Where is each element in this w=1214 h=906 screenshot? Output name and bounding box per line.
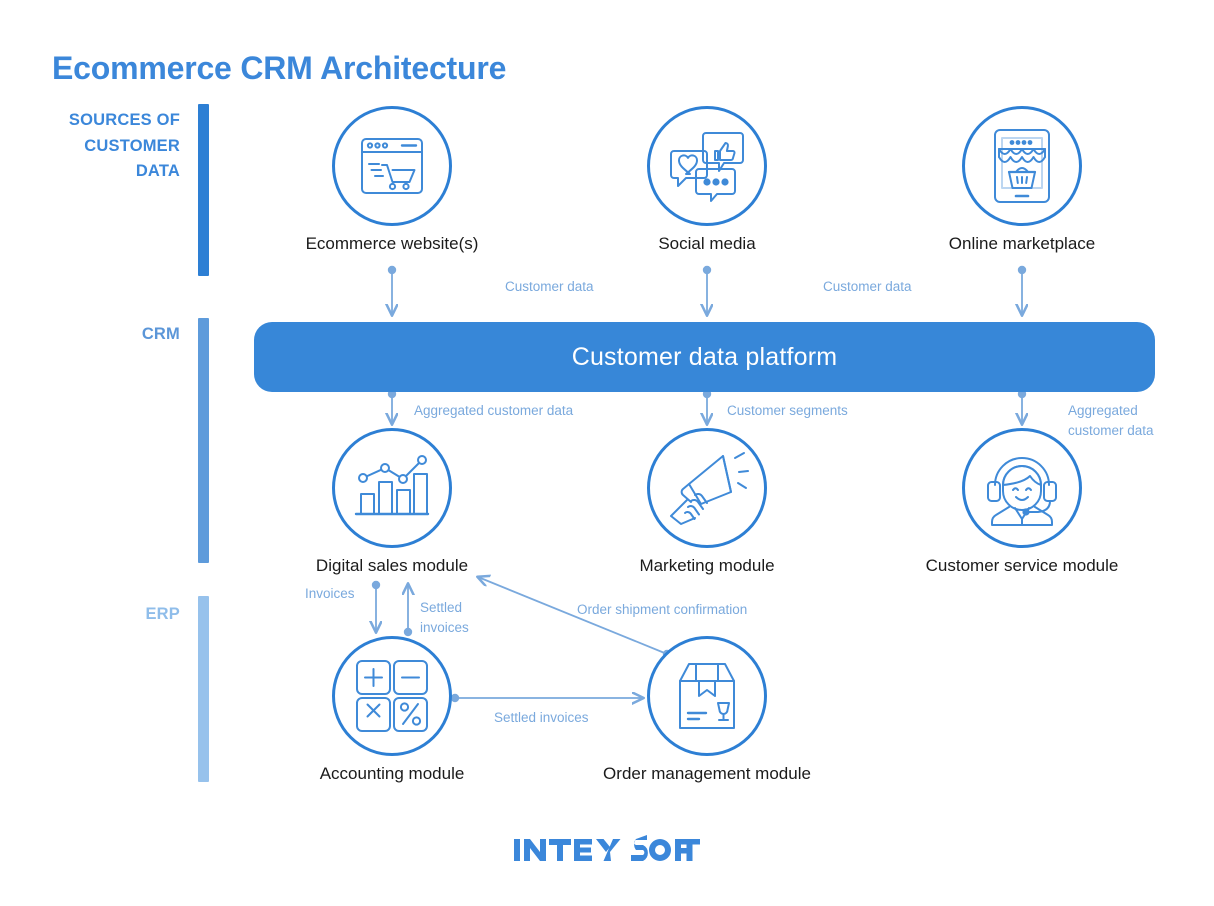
edge-label-settled-invoices-horizontal: Settled invoices bbox=[494, 708, 589, 728]
edge-label-customer-data-1: Customer data bbox=[505, 277, 594, 297]
megaphone-hand-icon bbox=[665, 450, 749, 526]
lane-label-erp: ERP bbox=[20, 602, 180, 628]
calculator-icon bbox=[355, 659, 429, 733]
speech-bubbles-icon bbox=[668, 129, 746, 203]
edge-label-aggregated-customer-data-1: Aggregated customer data bbox=[414, 401, 573, 421]
lane-bar-erp bbox=[198, 596, 209, 782]
node-caption: Order management module bbox=[603, 764, 811, 784]
node-caption: Digital sales module bbox=[316, 556, 468, 576]
edge-label-aggregated-customer-data-2: Aggregated customer data bbox=[1068, 401, 1178, 440]
node-marketing-module[interactable]: Marketing module bbox=[647, 428, 767, 548]
edge-label-line-2: invoices bbox=[420, 618, 490, 638]
page-title: Ecommerce CRM Architecture bbox=[52, 50, 506, 87]
edge-label-settled-invoices-vertical: Settled invoices bbox=[420, 598, 490, 637]
node-caption: Online marketplace bbox=[949, 234, 1095, 254]
headset-agent-icon bbox=[981, 449, 1063, 527]
node-caption: Accounting module bbox=[320, 764, 465, 784]
node-caption: Customer service module bbox=[926, 556, 1119, 576]
edge-label-line-1: Aggregated bbox=[1068, 401, 1178, 421]
intexsoft-logo-icon bbox=[514, 835, 700, 865]
lane-label-crm: CRM bbox=[20, 322, 180, 348]
node-accounting-module[interactable]: Accounting module bbox=[332, 636, 452, 756]
diagram-canvas: Ecommerce CRM Architecture SOURCES OF CU… bbox=[0, 0, 1214, 906]
bar-chart-trend-icon bbox=[352, 452, 432, 524]
lane-bar-sources bbox=[198, 104, 209, 276]
tablet-shop-icon bbox=[986, 127, 1058, 205]
edge-label-customer-segments: Customer segments bbox=[727, 401, 848, 421]
customer-data-platform-label: Customer data platform bbox=[572, 343, 838, 372]
lane-label-line-1: SOURCES OF bbox=[20, 108, 180, 134]
node-ecommerce-website[interactable]: Ecommerce website(s) bbox=[332, 106, 452, 226]
browser-cart-icon bbox=[354, 128, 430, 204]
node-online-marketplace[interactable]: Online marketplace bbox=[962, 106, 1082, 226]
intexsoft-logo: INTEXSOFT bbox=[514, 835, 700, 870]
edge-label-customer-data-2: Customer data bbox=[823, 277, 912, 297]
node-caption: Social media bbox=[658, 234, 755, 254]
node-caption: Ecommerce website(s) bbox=[306, 234, 479, 254]
lane-bar-crm bbox=[198, 318, 209, 563]
node-social-media[interactable]: Social media bbox=[647, 106, 767, 226]
edge-label-order-shipment-confirmation: Order shipment confirmation bbox=[577, 600, 747, 620]
lane-label-sources-of-customer-data: SOURCES OF CUSTOMER DATA bbox=[20, 108, 180, 185]
node-order-management-module[interactable]: Order management module bbox=[647, 636, 767, 756]
lane-label-line-2: CUSTOMER bbox=[20, 134, 180, 160]
edge-label-invoices: Invoices bbox=[305, 584, 355, 604]
node-caption: Marketing module bbox=[639, 556, 774, 576]
node-digital-sales-module[interactable]: Digital sales module bbox=[332, 428, 452, 548]
customer-data-platform-bar[interactable]: Customer data platform bbox=[254, 322, 1155, 392]
edge-label-line-1: Settled bbox=[420, 598, 490, 618]
node-customer-service-module[interactable]: Customer service module bbox=[962, 428, 1082, 548]
lane-label-line-3: DATA bbox=[20, 159, 180, 185]
edge-label-line-2: customer data bbox=[1068, 421, 1178, 441]
package-box-icon bbox=[670, 661, 744, 731]
